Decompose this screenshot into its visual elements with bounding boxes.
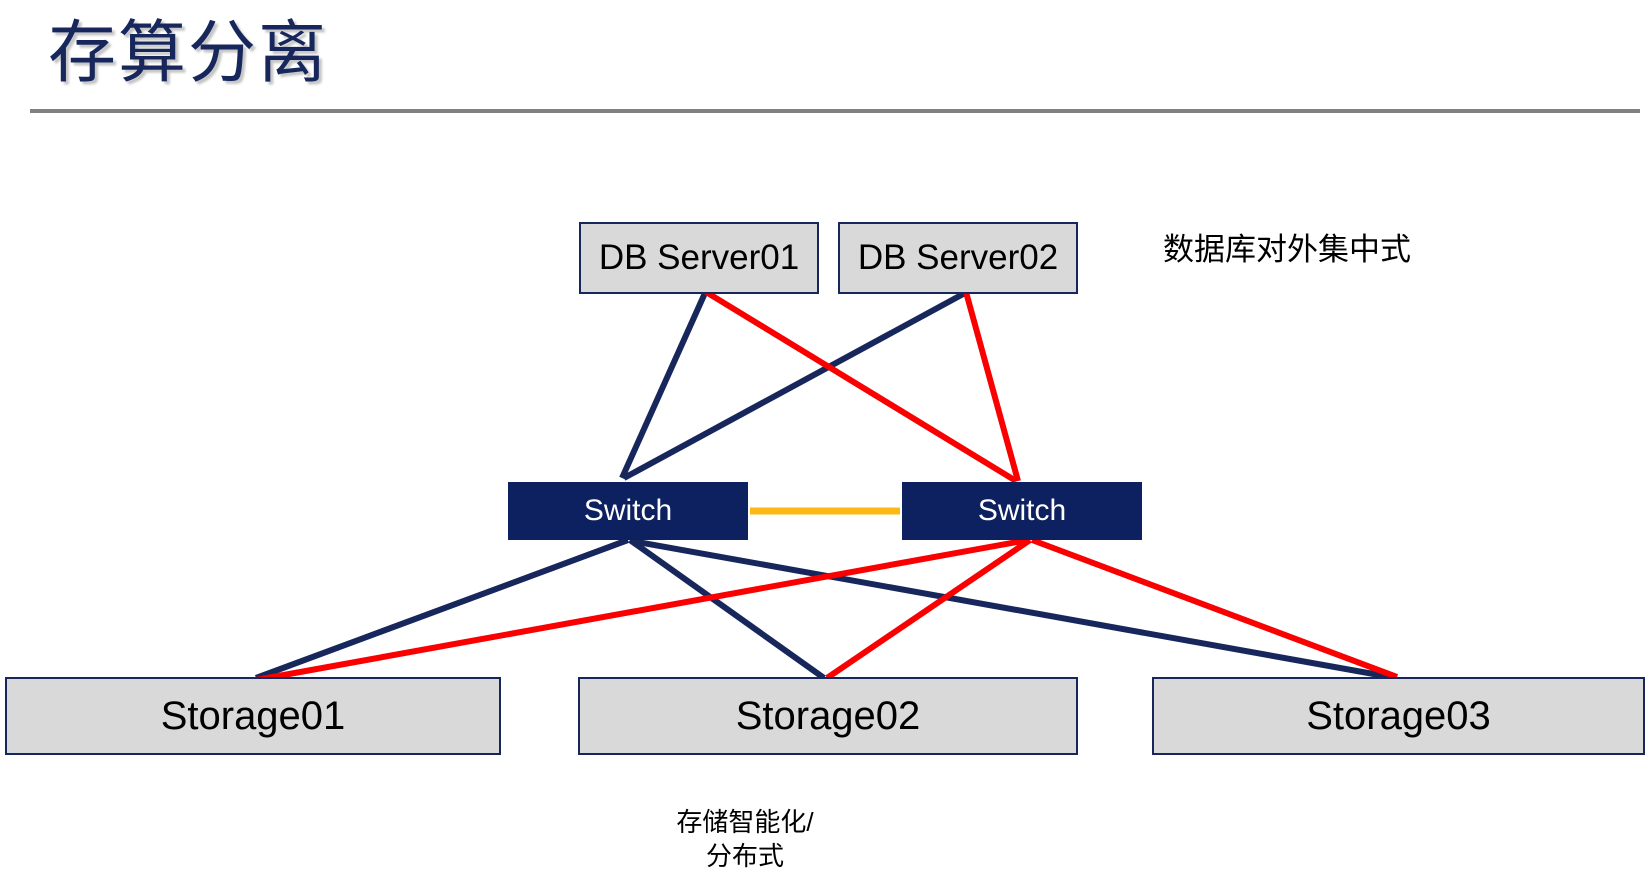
link-switch2-storage01	[256, 540, 1028, 680]
annotation-storage-line1: 存储智能化/	[676, 805, 813, 839]
annotation-database-tier: 数据库对外集中式	[1163, 229, 1411, 271]
link-switch1-storage03	[632, 541, 1396, 678]
link-db01-switch2	[706, 292, 1016, 481]
node-storage-02[interactable]: Storage02	[578, 677, 1078, 755]
slide-canvas: 存算分离 DB Server01 DB Server02 Switch Swit…	[0, 0, 1648, 886]
node-storage-03[interactable]: Storage03	[1152, 677, 1645, 755]
annotation-storage-line2: 分布式	[676, 839, 813, 873]
node-switch-02[interactable]: Switch	[902, 482, 1142, 540]
node-switch-01[interactable]: Switch	[508, 482, 748, 540]
node-storage-01[interactable]: Storage01	[5, 677, 501, 755]
node-db-server-01[interactable]: DB Server01	[579, 222, 819, 294]
node-db-server-02[interactable]: DB Server02	[838, 222, 1078, 294]
link-db01-switch1	[622, 293, 705, 478]
link-db02-switch1	[624, 293, 965, 478]
link-switch2-storage03	[1032, 540, 1397, 677]
link-switch1-storage01	[256, 540, 628, 678]
annotation-storage-tier: 存储智能化/ 分布式	[676, 805, 813, 873]
